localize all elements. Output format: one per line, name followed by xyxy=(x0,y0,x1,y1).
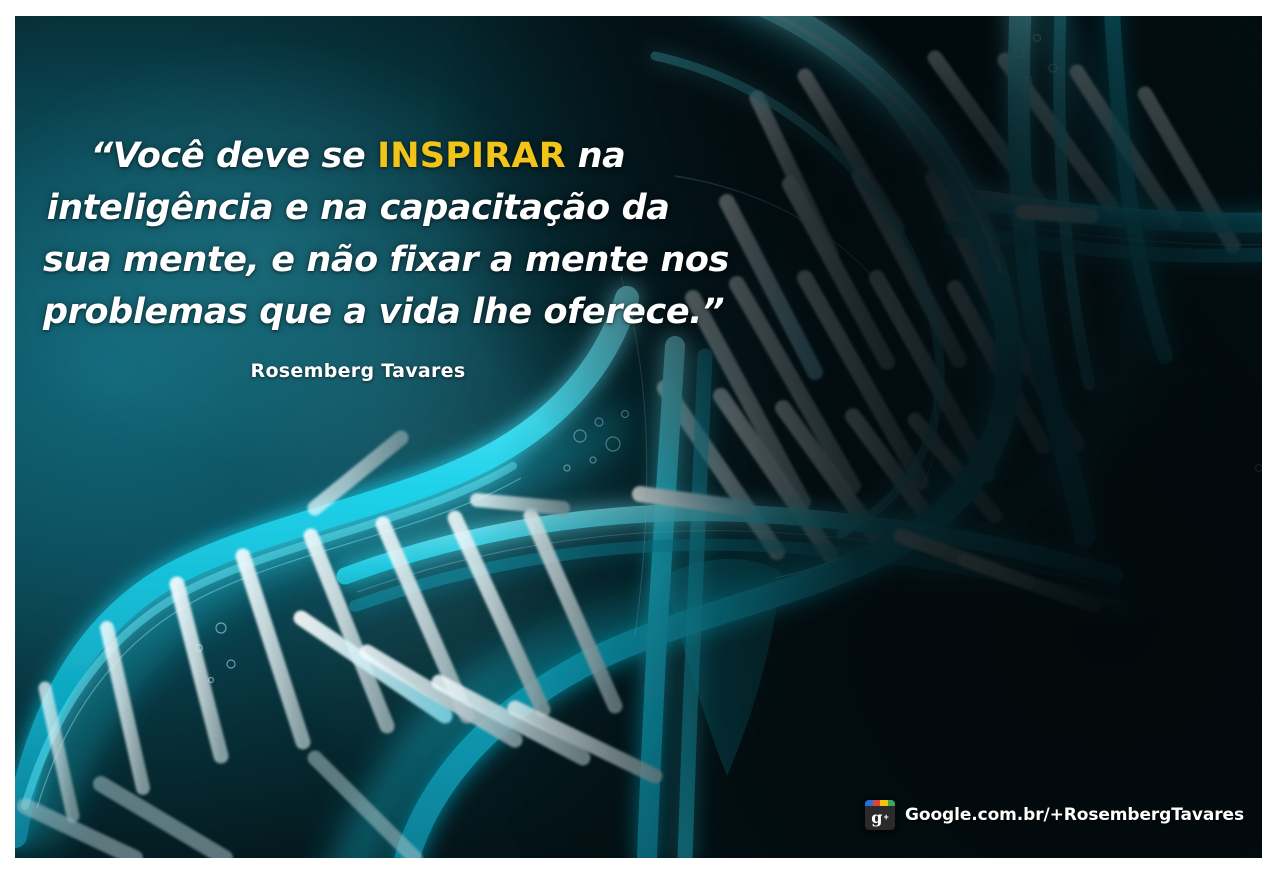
credit-url-text[interactable]: Google.com.br/+RosembergTavares xyxy=(905,805,1244,825)
page-root: “Você deve se INSPIRAR na inteligência e… xyxy=(0,0,1280,876)
quote-line-3: sua mente, e não fixar a mente nos xyxy=(43,234,673,286)
quote-block: “Você deve se INSPIRAR na inteligência e… xyxy=(43,130,673,382)
quote-line-4: problemas que a vida lhe oferece.” xyxy=(43,286,673,338)
google-plus-glyph: g+ xyxy=(865,806,895,830)
credit-badge[interactable]: g+ Google.com.br/+RosembergTavares xyxy=(865,800,1244,830)
quote-line-1: “Você deve se INSPIRAR na xyxy=(43,130,673,182)
quote-highlight-word: INSPIRAR xyxy=(377,136,566,176)
gplus-letter: g xyxy=(871,810,882,826)
dna-artwork-image: “Você deve se INSPIRAR na inteligência e… xyxy=(15,16,1262,858)
quote-line-2: inteligência e na capacitação da xyxy=(43,182,673,234)
google-plus-icon[interactable]: g+ xyxy=(865,800,895,830)
quote-line-1-pre: “Você deve se xyxy=(91,136,377,176)
quote-author: Rosemberg Tavares xyxy=(43,360,673,382)
quote-line-1-post: na xyxy=(566,136,626,176)
gplus-plus: + xyxy=(883,813,888,822)
